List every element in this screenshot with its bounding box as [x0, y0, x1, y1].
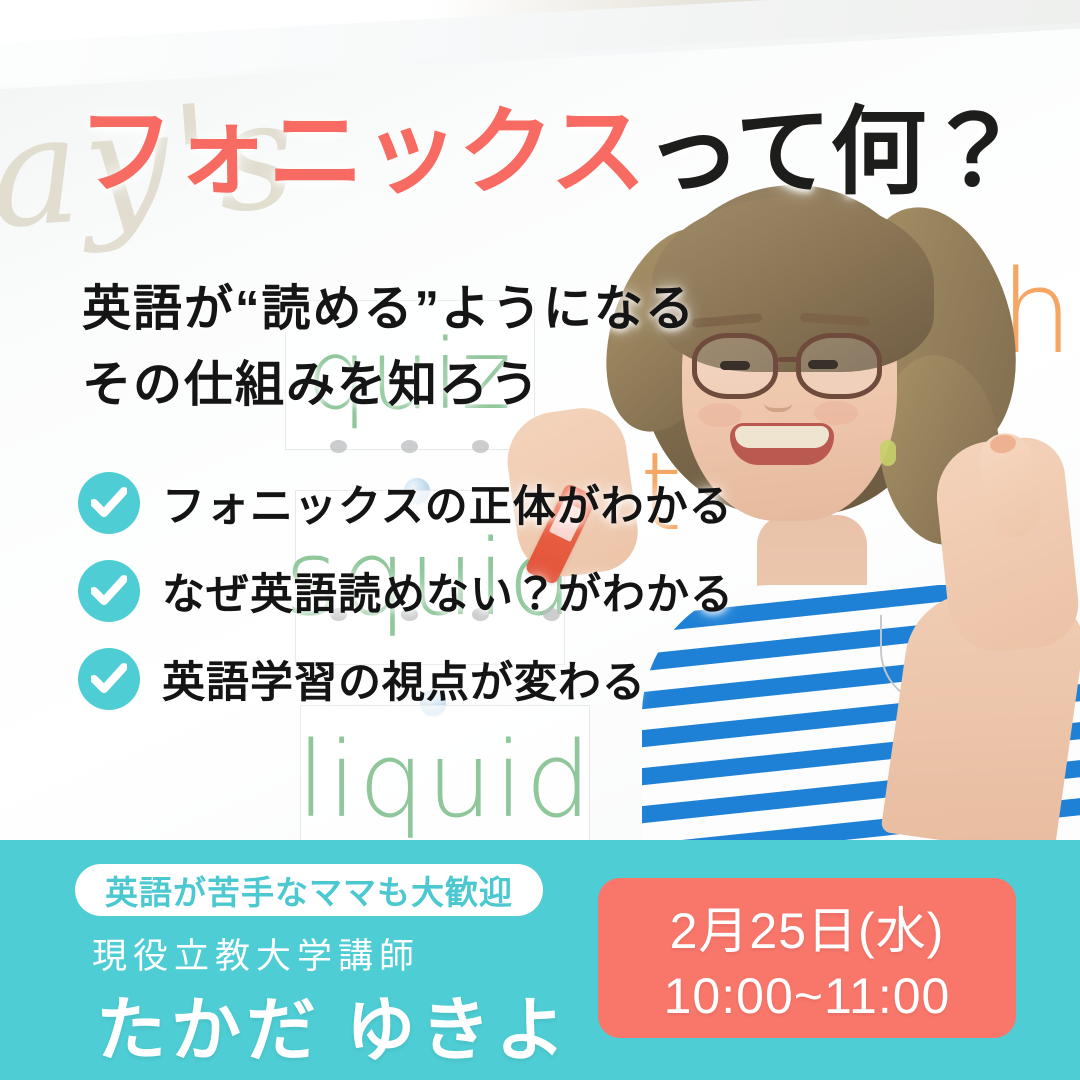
smiling-mouth	[730, 423, 834, 465]
event-time: 10:00~11:00	[664, 967, 951, 1025]
subtitle-line-2: その仕組みを知ろう	[82, 348, 696, 424]
flyer-canvas: ay's a th t ic quiz squid liquid	[0, 0, 1080, 1080]
checklist-item-1: フォニックスの正体がわかる	[78, 472, 734, 534]
checklist-label-2: なぜ英語読めない？がわかる	[162, 560, 734, 622]
page-title: フォニックスって何？	[78, 103, 1020, 204]
card-dots-quiz	[330, 440, 489, 453]
cheek-right	[814, 401, 858, 425]
status-badge: 英語が苦手なママも大歓迎	[75, 864, 543, 916]
headline-highlight: フォニックス	[78, 99, 645, 206]
checklist-item-3: 英語学習の視点が変わる	[78, 648, 734, 710]
benefits-checklist: フォニックスの正体がわかる なぜ英語読めない？がわかる 英語学習の視点が変わる	[78, 472, 734, 736]
checklist-label-1: フォニックスの正体がわかる	[162, 472, 733, 534]
badge-label: 英語が苦手なママも大歓迎	[105, 866, 513, 914]
cheek-left	[698, 403, 742, 427]
headline-rest: って何？	[645, 99, 1020, 206]
checklist-item-2: なぜ英語読めない？がわかる	[78, 560, 734, 622]
check-icon	[78, 560, 140, 622]
subtitle-line-1: 英語が“読める”ようになる	[82, 272, 696, 348]
event-datetime-box: 2月25日(水) 10:00~11:00	[598, 878, 1016, 1038]
earring	[880, 440, 896, 466]
speaker-name: たかだ ゆきよ	[96, 974, 570, 1075]
checklist-label-3: 英語学習の視点が変わる	[162, 648, 646, 710]
eye-right	[808, 360, 838, 369]
eye-left	[720, 361, 750, 370]
nose	[764, 390, 792, 412]
event-date: 2月25日(水)	[670, 891, 945, 963]
footer-banner: 英語が苦手なママも大歓迎 現役立教大学講師 たかだ ゆきよ 2月25日(水) 1…	[0, 840, 1080, 1080]
speaker-role: 現役立教大学講師	[92, 928, 420, 979]
check-icon	[78, 648, 140, 710]
check-icon	[78, 472, 140, 534]
card-word-liquid: liquid	[297, 719, 594, 841]
subtitle: 英語が“読める”ようになる その仕組みを知ろう	[82, 272, 696, 424]
